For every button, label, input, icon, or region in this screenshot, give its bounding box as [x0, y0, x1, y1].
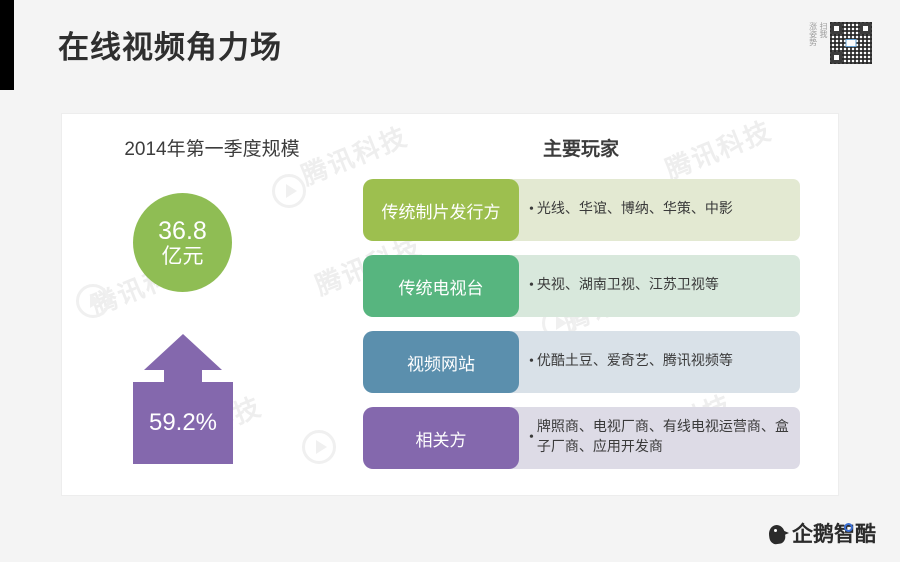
growth-arrow-metric: 59.2%: [133, 334, 233, 464]
qr-caption: 涨姿势 扫我: [808, 22, 827, 46]
page-title: 在线视频角力场: [58, 22, 282, 67]
bullet-icon: •: [529, 276, 534, 296]
row-category-badge[interactable]: 视频网站: [363, 331, 519, 393]
table-row[interactable]: 相关方 • 牌照商、电视厂商、有线电视运营商、盒子厂商、应用开发商: [363, 407, 800, 469]
qr-caption-col-2: 涨姿势: [808, 22, 816, 46]
left-column-heading: 2014年第一季度规模: [62, 134, 362, 161]
slide-canvas: 在线视频角力场 涨姿势 扫我 腾讯科技 腾讯科技 腾讯科技 腾讯科技 腾讯科技 …: [0, 0, 900, 562]
brand-ring-accent: [844, 523, 853, 532]
row-content: • 优酷土豆、爱奇艺、腾讯视频等: [511, 331, 800, 393]
right-column: 主要玩家 传统制片发行方 • 光线、华谊、博纳、华策、中影 传统电视台 • 央视…: [362, 114, 838, 495]
bullet-icon: •: [529, 428, 534, 448]
table-row[interactable]: 传统电视台 • 央视、湖南卫视、江苏卫视等: [363, 255, 800, 317]
table-row[interactable]: 传统制片发行方 • 光线、华谊、博纳、华策、中影: [363, 179, 800, 241]
row-category-badge[interactable]: 传统制片发行方: [363, 179, 519, 241]
content-card: 腾讯科技 腾讯科技 腾讯科技 腾讯科技 腾讯科技 腾讯科技 腾讯科技 2014年…: [61, 113, 839, 496]
player-rows: 传统制片发行方 • 光线、华谊、博纳、华策、中影 传统电视台 • 央视、湖南卫视…: [363, 179, 800, 483]
row-content-text: 优酷土豆、爱奇艺、腾讯视频等: [537, 352, 733, 372]
row-category-badge[interactable]: 相关方: [363, 407, 519, 469]
left-column: 2014年第一季度规模 36.8 亿元 59.2%: [62, 114, 362, 495]
qr-eye-bottom-left: [831, 52, 842, 63]
qr-center-logo: [846, 39, 857, 47]
qr-caption-col-1: 扫我: [819, 22, 827, 46]
scale-unit: 亿元: [162, 245, 204, 269]
arrow-up-icon: [144, 334, 222, 370]
penguin-icon: [767, 521, 789, 545]
brand-name: 企鹅智酷: [792, 518, 876, 548]
row-content-text: 牌照商、电视厂商、有线电视运营商、盒子厂商、应用开发商: [537, 418, 790, 459]
growth-value: 59.2%: [133, 382, 233, 464]
brand-name-text: 企鹅智酷: [792, 523, 876, 546]
right-column-heading: 主要玩家: [362, 134, 800, 161]
title-accent-bar: [0, 0, 14, 90]
bullet-icon: •: [529, 200, 534, 220]
row-content-text: 光线、华谊、博纳、华策、中影: [537, 200, 733, 220]
penguin-eye: [774, 529, 777, 532]
qr-code-icon[interactable]: [830, 22, 872, 64]
row-content-text: 央视、湖南卫视、江苏卫视等: [537, 276, 719, 296]
row-content: • 牌照商、电视厂商、有线电视运营商、盒子厂商、应用开发商: [511, 407, 800, 469]
brand-logo: 企鹅智酷: [767, 518, 876, 548]
arrow-neck: [164, 369, 202, 383]
penguin-beak: [782, 530, 789, 536]
scale-circle-metric: 36.8 亿元: [133, 193, 232, 292]
row-content: • 央视、湖南卫视、江苏卫视等: [511, 255, 800, 317]
row-category-badge[interactable]: 传统电视台: [363, 255, 519, 317]
bullet-icon: •: [529, 352, 534, 372]
table-row[interactable]: 视频网站 • 优酷土豆、爱奇艺、腾讯视频等: [363, 331, 800, 393]
row-content: • 光线、华谊、博纳、华策、中影: [511, 179, 800, 241]
scale-value: 36.8: [158, 217, 207, 245]
qr-block[interactable]: 涨姿势 扫我: [808, 22, 872, 64]
